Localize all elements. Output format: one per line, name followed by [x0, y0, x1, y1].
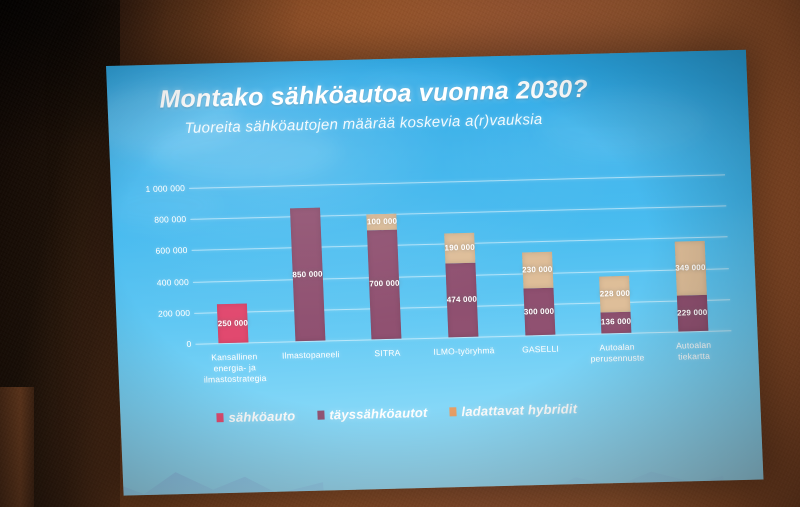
grid-line: [190, 206, 726, 221]
bar-group[interactable]: 300 000230 000: [522, 252, 555, 335]
bar-segment[interactable]: 300 000: [523, 288, 555, 336]
y-axis-tick-label: 600 000: [155, 245, 188, 256]
legend-swatch: [449, 407, 456, 416]
legend-item[interactable]: sähköauto: [216, 408, 295, 425]
bar-group[interactable]: 700 000100 000: [367, 214, 402, 339]
bar-value-label: 228 000: [600, 289, 631, 299]
bar-segment[interactable]: 349 000: [674, 241, 706, 296]
y-axis-tick-label: 800 000: [154, 214, 187, 225]
bar-value-label: 229 000: [677, 308, 708, 318]
bar-value-label: 250 000: [218, 318, 249, 328]
x-axis-tick-label: Autoalantiekartta: [655, 339, 732, 363]
bar-segment[interactable]: 250 000: [217, 303, 249, 343]
projection-screen: Montako sähköautoa vuonna 2030? Tuoreita…: [106, 50, 764, 496]
bar-group[interactable]: 229 000349 000: [674, 241, 708, 332]
bar-segment[interactable]: 190 000: [444, 233, 475, 263]
bar-value-label: 850 000: [292, 269, 323, 279]
bar-value-label: 230 000: [522, 265, 553, 275]
x-axis-tick-label: SITRA: [349, 347, 426, 360]
bar-segment[interactable]: 228 000: [599, 276, 630, 312]
x-axis-tick-label: Autoalanperusennuste: [579, 341, 656, 365]
bar-value-label: 190 000: [444, 243, 475, 253]
bar-value-label: 100 000: [367, 217, 398, 227]
bar-segment[interactable]: 850 000: [290, 208, 325, 341]
legend-item[interactable]: täyssähköautot: [317, 405, 428, 423]
bar-group[interactable]: 250 000: [217, 303, 249, 343]
presentation-slide: Montako sähköautoa vuonna 2030? Tuoreita…: [106, 50, 764, 496]
legend-swatch: [317, 411, 324, 420]
bar-value-label: 700 000: [369, 279, 400, 289]
y-axis-tick-label: 1 000 000: [145, 183, 185, 194]
legend-swatch: [216, 413, 223, 422]
bar-value-label: 349 000: [675, 263, 706, 273]
y-axis-tick-label: 400 000: [157, 277, 190, 288]
bar-segment[interactable]: 230 000: [522, 252, 553, 289]
legend-label: täyssähköautot: [329, 405, 428, 422]
x-axis-tick-label: Kansallinenenergia- jailmastostrategia: [196, 351, 274, 386]
bar-group[interactable]: 136 000228 000: [599, 276, 631, 333]
bar-group[interactable]: 474 000190 000: [444, 233, 478, 337]
bar-group[interactable]: 850 000: [290, 208, 325, 341]
legend-label: sähköauto: [228, 408, 295, 425]
bar-value-label: 136 000: [601, 317, 632, 327]
bar-segment[interactable]: 100 000: [367, 214, 398, 230]
legend-label: ladattavat hybridit: [461, 401, 577, 419]
bar-chart: 1 000 000800 000600 000400 000200 000025…: [106, 50, 764, 496]
bar-value-label: 300 000: [524, 306, 555, 316]
bar-value-label: 474 000: [447, 295, 478, 305]
door-frame: [0, 387, 34, 507]
bar-segment[interactable]: 136 000: [601, 312, 632, 334]
y-axis-tick-label: 0: [186, 339, 191, 349]
x-axis-tick-label: GASELLI: [502, 343, 579, 356]
x-axis-tick-label: ILMO-työryhmä: [425, 345, 502, 358]
photo-scene: Montako sähköautoa vuonna 2030? Tuoreita…: [0, 0, 800, 507]
bar-segment[interactable]: 229 000: [677, 295, 708, 331]
x-axis-tick-label: Ilmastopaneeli: [272, 349, 349, 362]
bar-segment[interactable]: 474 000: [445, 263, 478, 338]
bar-segment[interactable]: 700 000: [367, 229, 401, 339]
y-axis-tick-label: 200 000: [158, 308, 191, 319]
grid-line: [189, 174, 725, 189]
